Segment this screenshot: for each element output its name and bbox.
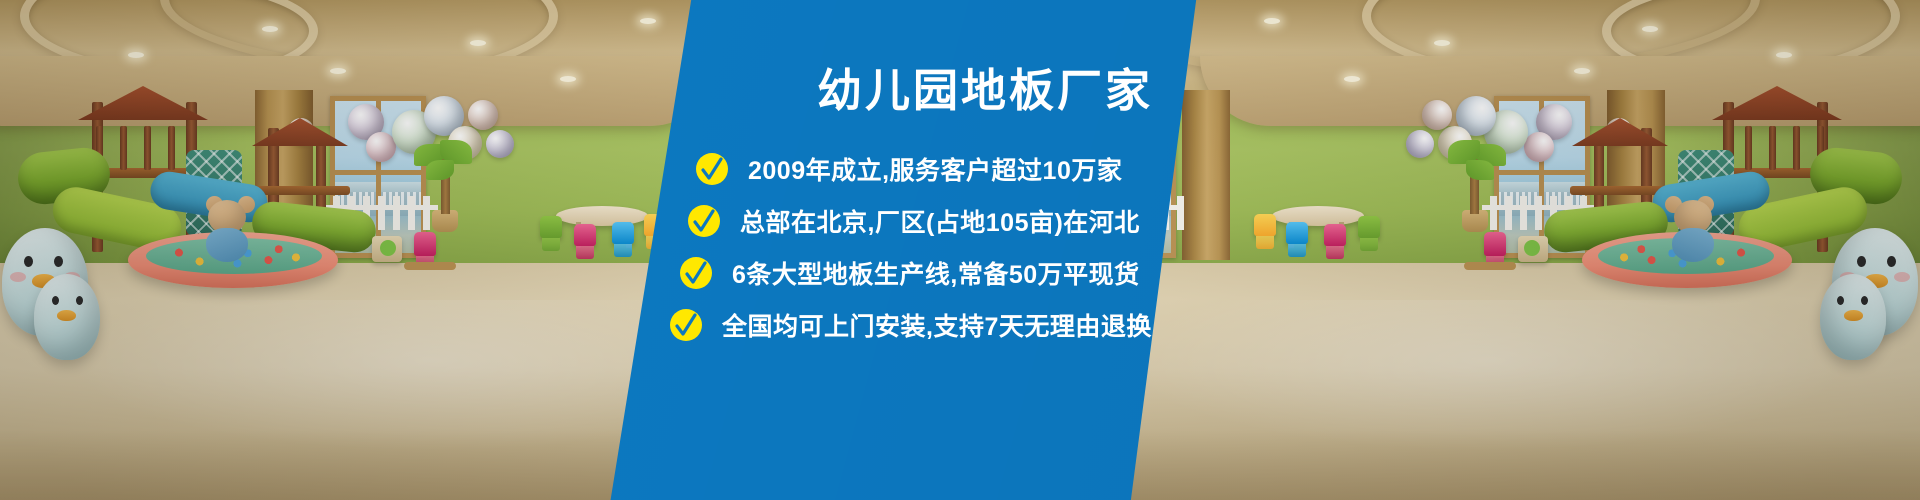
promo-banner: 幼儿园地板厂家 2009年成立,服务客户超过10万家 总部在北京,厂区(占地10… <box>0 0 1920 500</box>
feature-list: 2009年成立,服务客户超过10万家 总部在北京,厂区(占地105亩)在河北 6… <box>668 143 1188 351</box>
list-item-label: 2009年成立,服务客户超过10万家 <box>748 151 1122 187</box>
check-circle-icon <box>680 257 712 289</box>
list-item: 6条大型地板生产线,常备50万平现货 <box>668 247 1188 299</box>
info-panel-content: 幼儿园地板厂家 2009年成立,服务客户超过10万家 总部在北京,厂区(占地10… <box>0 0 1920 500</box>
list-item-label: 总部在北京,厂区(占地105亩)在河北 <box>740 203 1140 239</box>
list-item-label: 全国均可上门安装,支持7天无理由退换 <box>722 307 1152 343</box>
list-item: 总部在北京,厂区(占地105亩)在河北 <box>668 195 1188 247</box>
check-circle-icon <box>688 205 720 237</box>
page-title: 幼儿园地板厂家 <box>775 66 1195 116</box>
check-circle-icon <box>696 153 728 185</box>
check-circle-icon <box>670 309 702 341</box>
list-item-label: 6条大型地板生产线,常备50万平现货 <box>732 255 1140 291</box>
list-item: 2009年成立,服务客户超过10万家 <box>668 143 1188 195</box>
list-item: 全国均可上门安装,支持7天无理由退换 <box>668 299 1188 351</box>
